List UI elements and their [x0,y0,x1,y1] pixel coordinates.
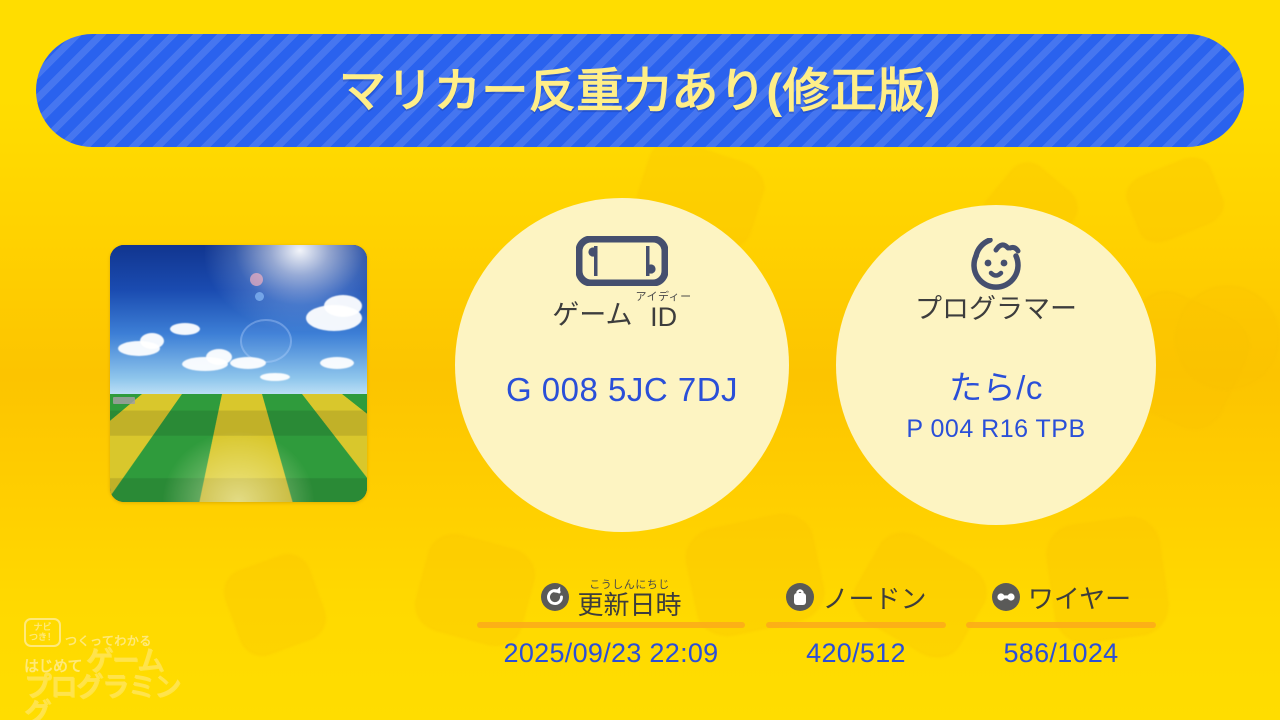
stat-wire-value: 586/1024 [1003,638,1118,669]
logo-line-big1: ゲーム [86,649,163,675]
programmer-label: プログラマー [915,295,1077,325]
programmer-id[interactable]: P 004 R16 TPB [906,415,1085,444]
switch-console-icon [576,236,668,286]
logo-top-row: ナビ つき！ つくってわかる [24,618,194,647]
game-id-value[interactable]: G 008 5JC 7DJ [506,371,738,409]
cloud-shape [260,373,290,381]
logo-badge: ナビ つき！ [24,618,61,647]
stat-nodon-label-text: ノードン [822,586,926,612]
cloud-shape [324,295,362,317]
stat-nodon-rule [766,622,946,628]
logo-tagline: つくってわかる [65,635,152,647]
stat-nodon: ノードン 420/512 [756,582,956,669]
game-detail-screen: マリカー反重力あり(修正版) [0,0,1280,720]
page-title: マリカー反重力あり(修正版) [339,67,941,114]
stat-nodon-value: 420/512 [806,638,906,669]
cloud-shape [170,323,200,335]
app-logo: ナビ つき！ つくってわかる はじめて ゲーム プログラミング [24,618,194,702]
stat-wire-rule [966,622,1156,628]
baby-face-icon [966,239,1026,289]
logo-line-big2: プログラミング [24,675,194,720]
cloud-shape [140,333,164,349]
refresh-icon [540,582,570,617]
game-id-ruby-group: アイディー ID [636,292,692,331]
stat-updated-rule [477,622,745,628]
game-thumbnail[interactable] [110,245,367,502]
logo-bottom-row: プログラミング [24,675,194,720]
programmer-card: プログラマー たら/c P 004 R16 TPB [836,205,1156,525]
game-id-card: ゲーム アイディー ID G 008 5JC 7DJ [455,198,789,532]
stat-updated-label: こうしんにちじ 更新日時 [577,580,681,618]
stat-nodon-label: ノードン [822,586,926,612]
logo-badge-line1: ナビ [34,622,52,632]
lens-flare-icon [250,273,263,286]
game-id-label: ゲーム アイディー ID [552,292,691,331]
cloud-shape [320,357,354,369]
stat-nodon-header: ノードン [785,582,926,616]
stat-wire: ワイヤー 586/1024 [956,582,1166,669]
nodon-icon [785,582,815,617]
thumbnail-marker [113,397,135,404]
game-id-label-text: ゲーム [552,301,632,331]
stat-updated: こうしんにちじ 更新日時 2025/09/23 22:09 [466,582,756,669]
stat-wire-label-text: ワイヤー [1028,586,1131,612]
cloud-shape [230,357,266,369]
cloud-shape [206,349,232,365]
programmer-name[interactable]: たら/c [949,361,1043,409]
stat-updated-value: 2025/09/23 22:09 [504,638,719,669]
game-id-ruby-base: ID [650,304,677,331]
logo-badge-line2: つき！ [29,632,56,642]
logo-mid-row: はじめて ゲーム [24,649,194,675]
stat-updated-label-text: 更新日時 [577,592,681,618]
wire-icon [991,582,1021,617]
stat-wire-label: ワイヤー [1028,586,1131,612]
stat-updated-header: こうしんにちじ 更新日時 [540,582,681,616]
thumbnail-ground-glow [161,430,315,502]
title-banner: マリカー反重力あり(修正版) [36,34,1244,147]
stat-wire-header: ワイヤー [991,582,1131,616]
lens-flare-icon [255,292,264,301]
stats-row: こうしんにちじ 更新日時 2025/09/23 22:09 ノードン [466,582,1166,669]
